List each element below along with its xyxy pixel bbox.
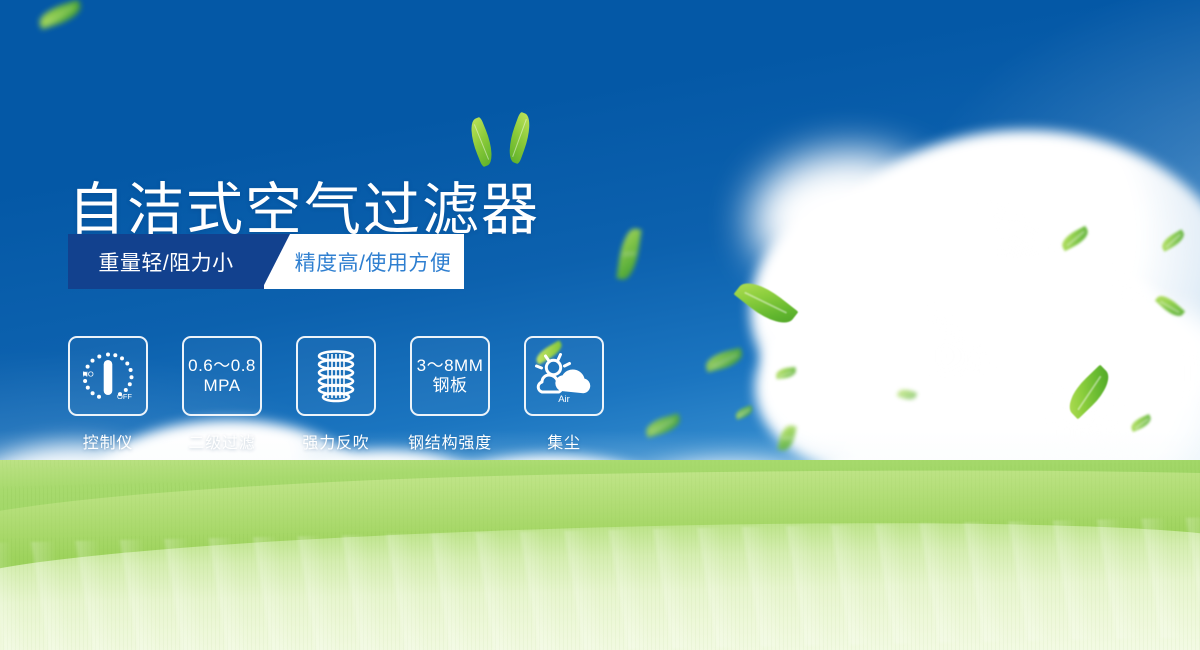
sprout-leaf-right-icon [503, 112, 536, 165]
page-title: 自洁式空气过滤器 [68, 180, 540, 242]
leaf-icon [36, 0, 83, 29]
feature-label: 集尘 [547, 429, 581, 453]
grass-field [0, 460, 1200, 650]
cloud-shape [810, 130, 1200, 460]
feature-icon-box[interactable]: Air [524, 336, 604, 416]
control-knob-icon: NO OFF [75, 343, 141, 409]
leaf-icon [776, 367, 797, 379]
subtitle-left-tag: 重量轻/阻力小 [68, 234, 264, 289]
feature-text-line2: 钢板 [417, 376, 484, 396]
feature-icon-box[interactable] [296, 336, 376, 416]
feature-item-reverse-blow[interactable]: 强力反吹 [296, 336, 376, 453]
product-banner: 自洁式空气过滤器 重量轻/阻力小 精度高/使用方便 [0, 0, 1200, 650]
cloud-shape [910, 255, 1190, 465]
feature-item-steel-strength[interactable]: 3〜8MM 钢板 钢结构强度 [410, 336, 490, 453]
leaf-icon [734, 274, 799, 333]
leaf-icon [1059, 226, 1092, 252]
feature-icon-box[interactable]: NO OFF [68, 336, 148, 416]
leaf-icon [1159, 229, 1187, 252]
leaf-icon [734, 405, 754, 420]
feature-item-two-stage-filter[interactable]: 0.6〜0.8 MPA 二级过滤 [182, 336, 262, 453]
feature-text-line1: 0.6〜0.8 [188, 356, 256, 375]
feature-label: 二级过滤 [188, 429, 255, 453]
feature-icon-box[interactable]: 3〜8MM 钢板 [410, 336, 490, 416]
leaf-icon [616, 227, 641, 281]
air-caption: Air [558, 394, 570, 404]
leaf-icon [1061, 365, 1117, 420]
cloud-shape [750, 185, 1080, 435]
leaf-icon [897, 387, 917, 401]
leaf-icon [704, 348, 745, 373]
sprout-leaf-left-icon [465, 117, 499, 168]
knob-off-label: OFF [117, 392, 132, 401]
feature-text-line1: 3〜8MM [417, 356, 484, 375]
feature-text-line2: MPA [188, 376, 256, 396]
subtitle-bar: 重量轻/阻力小 精度高/使用方便 [68, 234, 464, 289]
cloud-sun-air-icon: Air [533, 348, 595, 404]
knob-on-label: NO [83, 370, 94, 379]
feature-label: 强力反吹 [302, 429, 369, 453]
cloud-shape [750, 150, 950, 290]
leaf-icon [1155, 292, 1185, 321]
subtitle-right-tag: 精度高/使用方便 [264, 234, 464, 289]
feature-label: 钢结构强度 [408, 429, 492, 453]
feature-item-control-knob[interactable]: NO OFF 控制仪 [68, 336, 148, 453]
feature-label: 控制仪 [83, 429, 133, 453]
leaf-icon [777, 424, 796, 452]
feature-item-dust-collection[interactable]: Air 集尘 [524, 336, 604, 453]
leaf-icon [1129, 414, 1153, 432]
steel-plate-text-icon: 3〜8MM 钢板 [417, 356, 484, 397]
feature-list: NO OFF 控制仪 0.6〜0.8 MPA 二级过滤 [68, 336, 604, 453]
leaf-icon [644, 413, 683, 437]
feature-icon-box[interactable]: 0.6〜0.8 MPA [182, 336, 262, 416]
filter-cartridge-icon [307, 346, 365, 406]
pressure-text-icon: 0.6〜0.8 MPA [188, 356, 256, 397]
cloud-shape [755, 300, 995, 475]
